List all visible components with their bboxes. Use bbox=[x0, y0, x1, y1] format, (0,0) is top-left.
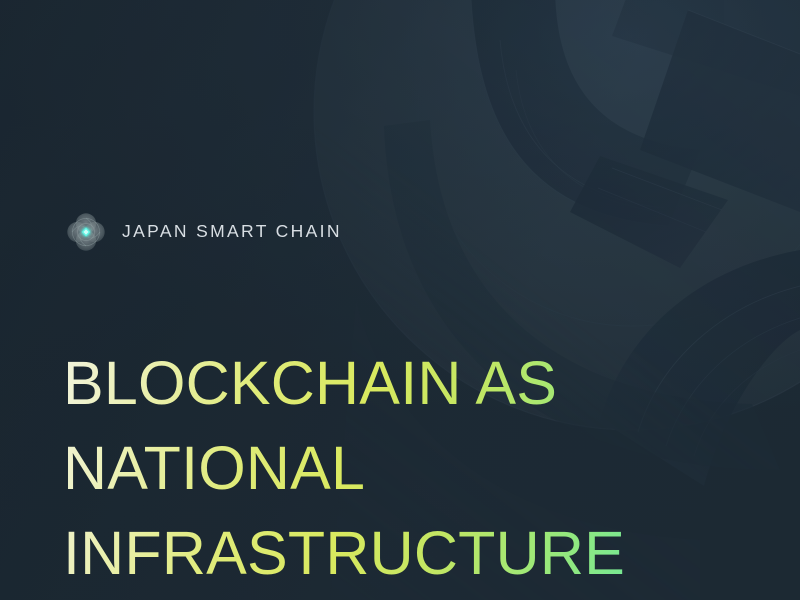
slide-content: JAPAN SMART CHAIN BLOCKCHAIN AS NATIONAL… bbox=[63, 0, 763, 600]
headline-line-2: NATIONAL bbox=[63, 426, 763, 511]
headline-line-1: BLOCKCHAIN AS bbox=[63, 341, 763, 426]
page-title: BLOCKCHAIN AS NATIONAL INFRASTRUCTURE bbox=[63, 341, 763, 596]
headline-line-3: INFRASTRUCTURE bbox=[63, 511, 763, 596]
brand-name: JAPAN SMART CHAIN bbox=[122, 223, 342, 242]
quatrefoil-logo-icon bbox=[63, 209, 109, 255]
brand-lockup: JAPAN SMART CHAIN bbox=[63, 209, 342, 255]
title-slide: JAPAN SMART CHAIN BLOCKCHAIN AS NATIONAL… bbox=[0, 0, 800, 600]
